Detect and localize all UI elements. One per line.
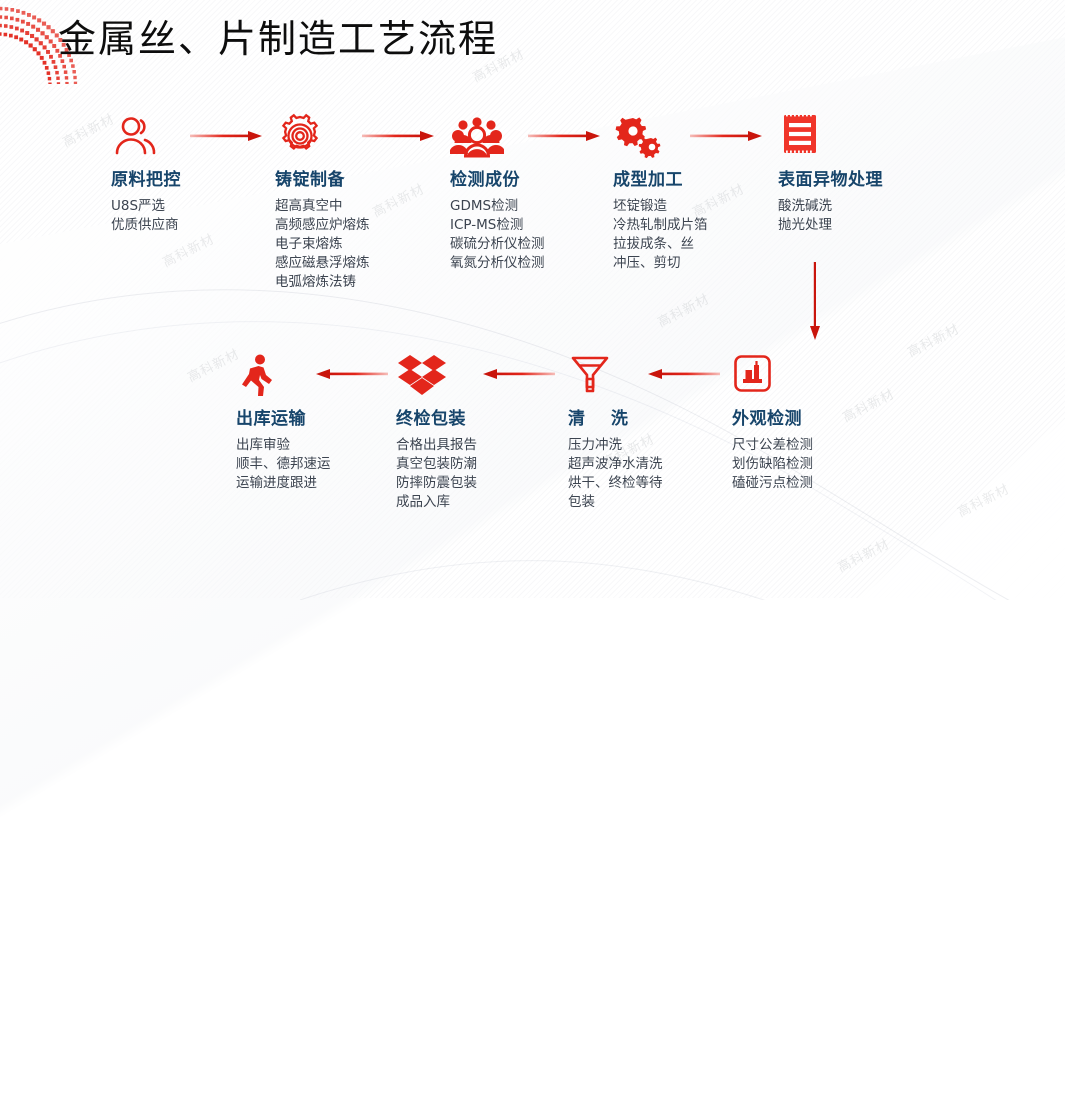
- step-detail-list: 尺寸公差检测 划伤缺陷检测 磕碰污点检测: [732, 436, 813, 493]
- step-detail-line: 划伤缺陷检测: [732, 455, 813, 474]
- step-outbound-transport: 出库运输 出库审验 顺丰、德邦速运 运输进度跟进: [236, 352, 331, 493]
- step-detail-line: ICP-MS检测: [450, 216, 545, 235]
- step-surface-treatment: 表面异物处理 酸洗碱洗 抛光处理: [778, 113, 883, 235]
- step-final-inspection-packaging: 终检包装 合格出具报告 真空包装防潮 防摔防震包装 成品入库: [396, 352, 477, 512]
- factory-inspect-icon: [732, 352, 776, 398]
- step-detail-line: 烘干、终检等待包装: [568, 474, 668, 512]
- step-detail-line: 氧氮分析仪检测: [450, 254, 545, 273]
- funnel-icon: [568, 352, 612, 398]
- watermark: 高科新材: [369, 178, 428, 220]
- step-title: 表面异物处理: [778, 165, 883, 190]
- step-title: 清 洗: [568, 404, 668, 429]
- page-title: 金属丝、片制造工艺流程: [58, 8, 498, 63]
- step-detail-line: 高频感应炉熔炼: [275, 216, 370, 235]
- step-title: 原料把控: [111, 165, 181, 190]
- step-detail-line: U8S严选: [111, 197, 181, 216]
- step-detail-line: 抛光处理: [778, 216, 883, 235]
- walking-person-icon: [236, 352, 280, 398]
- background-texture: [0, 0, 1065, 598]
- step-title: 成型加工: [613, 165, 708, 190]
- watermark: 高科新材: [954, 478, 1013, 520]
- step-detail-list: 出库审验 顺丰、德邦速运 运输进度跟进: [236, 436, 331, 493]
- step-detail-list: 压力冲洗 超声波净水清洗 烘干、终检等待包装: [568, 436, 668, 512]
- step-detail-line: 成品入库: [396, 493, 477, 512]
- step-detail-line: 电弧熔炼法铸: [275, 273, 370, 292]
- step-detail-list: U8S严选 优质供应商: [111, 197, 181, 235]
- step-detail-line: 冷热轧制成片箔: [613, 216, 708, 235]
- step-detail-line: 感应磁悬浮熔炼: [275, 254, 370, 273]
- step-title: 终检包装: [396, 404, 477, 429]
- people-group-icon: [450, 113, 504, 159]
- watermark: 高科新材: [904, 318, 963, 360]
- step-ingot-preparation: 铸锭制备 超高真空中 高频感应炉熔炼 电子束熔炼 感应磁悬浮熔炼 电弧熔炼法铸: [275, 113, 370, 292]
- arrow-forming-to-surface: [690, 130, 762, 142]
- step-detail-line: 电子束熔炼: [275, 235, 370, 254]
- step-detail-line: 超声波净水清洗: [568, 455, 668, 474]
- step-detail-line: 碳硫分析仪检测: [450, 235, 545, 254]
- step-detail-list: 合格出具报告 真空包装防潮 防摔防震包装 成品入库: [396, 436, 477, 512]
- watermark: 高科新材: [59, 108, 118, 150]
- watermark: 高科新材: [654, 288, 713, 330]
- step-detail-list: GDMS检测 ICP-MS检测 碳硫分析仪检测 氧氮分析仪检测: [450, 197, 545, 273]
- step-detail-line: 冲压、剪切: [613, 254, 708, 273]
- document-stack-icon: [778, 113, 822, 159]
- step-detail-line: 超高真空中: [275, 197, 370, 216]
- step-detail-line: 磕碰污点检测: [732, 474, 813, 493]
- step-detail-line: 真空包装防潮: [396, 455, 477, 474]
- step-detail-list: 酸洗碱洗 抛光处理: [778, 197, 883, 235]
- arrow-cleaning-to-packaging: [483, 368, 555, 380]
- step-detail-line: 压力冲洗: [568, 436, 668, 455]
- two-gears-icon: [613, 113, 667, 159]
- step-detail-line: 顺丰、德邦速运: [236, 455, 331, 474]
- step-appearance-inspection: 外观检测 尺寸公差检测 划伤缺陷检测 磕碰污点检测: [732, 352, 813, 493]
- step-detail-line: 尺寸公差检测: [732, 436, 813, 455]
- watermark: 高科新材: [839, 383, 898, 425]
- step-detail-line: 合格出具报告: [396, 436, 477, 455]
- arrow-ingot-to-analysis: [362, 130, 434, 142]
- open-box-icon: [396, 352, 448, 398]
- arrow-raw-to-ingot: [190, 130, 262, 142]
- step-detail-line: 运输进度跟进: [236, 474, 331, 493]
- step-detail-list: 坯锭锻造 冷热轧制成片箔 拉拔成条、丝 冲压、剪切: [613, 197, 708, 273]
- watermark: 高科新材: [184, 343, 243, 385]
- arrow-surface-to-appearance: [808, 262, 822, 340]
- watermark: 高科新材: [834, 533, 893, 575]
- step-raw-material-control: 原料把控 U8S严选 优质供应商: [111, 113, 181, 235]
- background-swoosh-lower: [68, 180, 1065, 1099]
- step-detail-line: 优质供应商: [111, 216, 181, 235]
- step-detail-line: 防摔防震包装: [396, 474, 477, 493]
- step-detail-line: 坯锭锻造: [613, 197, 708, 216]
- arrow-analysis-to-forming: [528, 130, 600, 142]
- step-cleaning: 清 洗 压力冲洗 超声波净水清洗 烘干、终检等待包装: [568, 352, 668, 512]
- step-detail-line: 出库审验: [236, 436, 331, 455]
- step-title: 外观检测: [732, 404, 813, 429]
- step-detail-list: 超高真空中 高频感应炉熔炼 电子束熔炼 感应磁悬浮熔炼 电弧熔炼法铸: [275, 197, 370, 292]
- two-people-icon: [111, 113, 163, 159]
- step-title: 铸锭制备: [275, 165, 370, 190]
- step-detail-line: 拉拔成条、丝: [613, 235, 708, 254]
- step-detail-line: GDMS检测: [450, 197, 545, 216]
- step-detail-line: 酸洗碱洗: [778, 197, 883, 216]
- gear-rings-icon: [275, 113, 325, 159]
- step-title: 出库运输: [236, 404, 331, 429]
- step-title: 检测成份: [450, 165, 545, 190]
